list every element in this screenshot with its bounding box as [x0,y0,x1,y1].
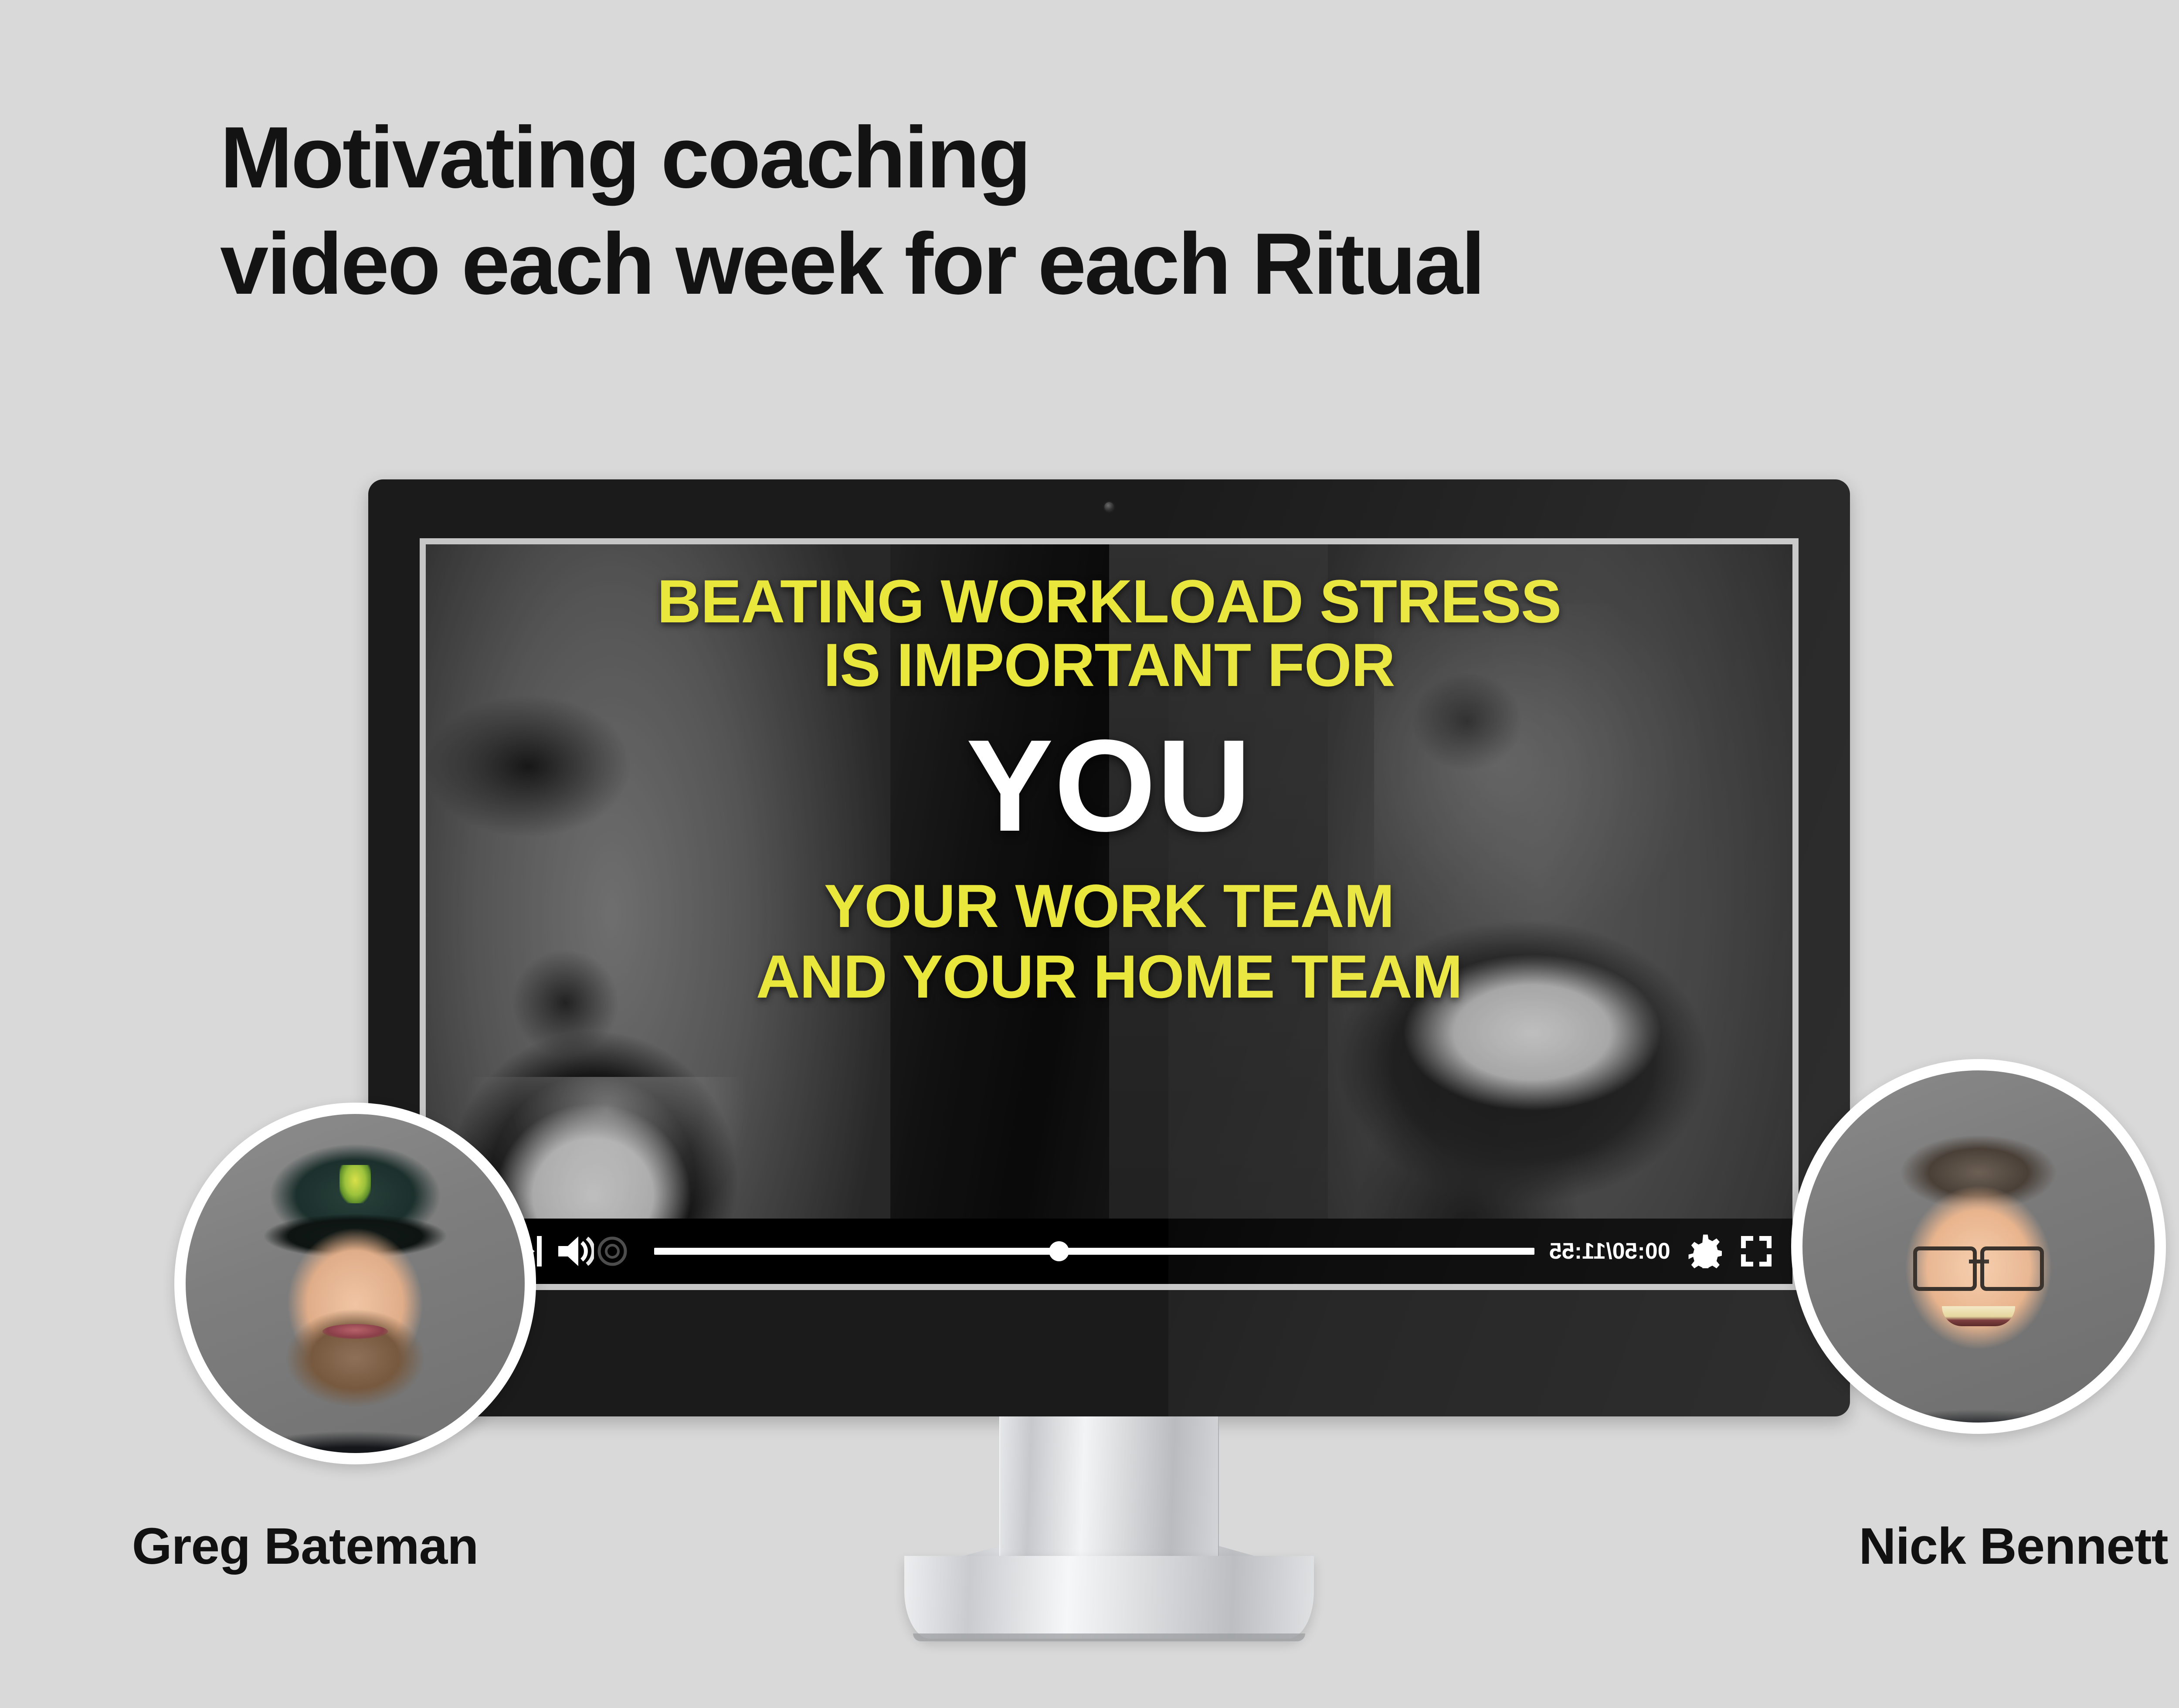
cap-logo-icon [339,1165,371,1203]
volume-icon[interactable] [557,1235,594,1268]
avatar-nick-bennett [1791,1059,2166,1434]
presenter-name-nick: Nick Bennett [1752,1517,2179,1576]
progress-bar[interactable] [654,1248,1534,1255]
progress-knob[interactable] [1049,1241,1069,1261]
page-title: Motivating coaching video each week for … [220,105,2138,317]
greg-mouth [322,1324,388,1339]
webcam-icon [1104,502,1114,512]
glasses-icon [1913,1246,2044,1284]
screen-frame: BEATING WORKLOAD STRESS IS IMPORTANT FOR… [420,538,1799,1290]
monitor-stand-foot [904,1556,1314,1639]
video-emphasis-word: YOU [966,720,1252,851]
player-control-bar[interactable]: 00:50/11:55 [426,1219,1792,1284]
glasses-lens-left [1913,1246,1977,1291]
glasses-lens-right [1980,1246,2044,1291]
avatar-nick-bennett-photo [1791,1059,2166,1434]
video-overlay-text: BEATING WORKLOAD STRESS IS IMPORTANT FOR… [426,544,1792,1284]
video-headline-line-2: IS IMPORTANT FOR [823,633,1395,697]
time-display: 00:50/11:55 [1549,1238,1670,1264]
video-subline-2: AND YOUR HOME TEAM [756,945,1463,1009]
monitor-bezel: BEATING WORKLOAD STRESS IS IMPORTANT FOR… [368,479,1850,1416]
nick-smile [1942,1306,2015,1326]
video-subline-1: YOUR WORK TEAM [824,874,1394,938]
avatar-greg-bateman-photo [174,1103,536,1464]
avatar-greg-bateman [174,1103,536,1464]
replay-icon[interactable] [597,1236,628,1267]
gear-icon[interactable] [1688,1234,1722,1268]
presenter-name-greg: Greg Bateman [44,1517,567,1576]
video-player[interactable]: BEATING WORKLOAD STRESS IS IMPORTANT FOR… [426,544,1792,1284]
monitor: BEATING WORKLOAD STRESS IS IMPORTANT FOR… [368,479,1850,1416]
fullscreen-icon[interactable] [1739,1234,1773,1268]
video-headline-line-1: BEATING WORKLOAD STRESS [657,570,1561,633]
monitor-stand-foot-lip [913,1633,1305,1641]
